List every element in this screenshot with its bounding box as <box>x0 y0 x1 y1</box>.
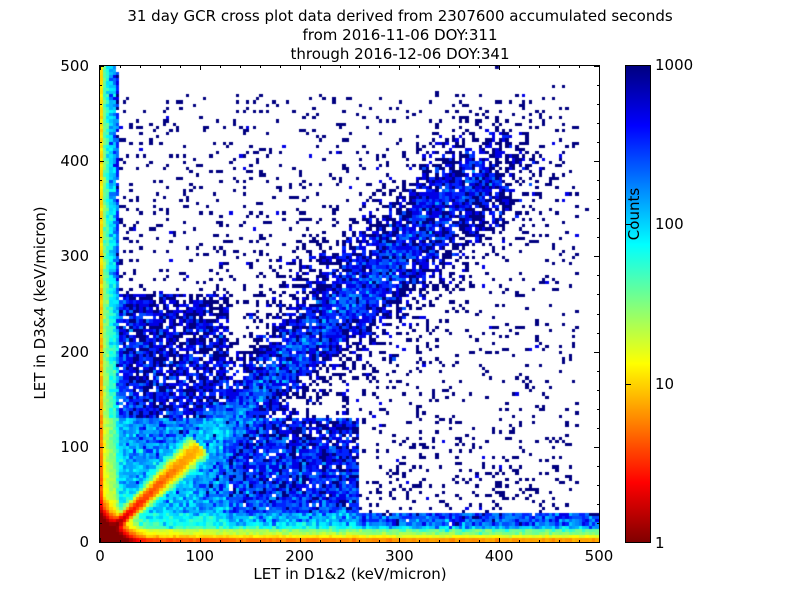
y-axis-major-tick-right <box>594 66 598 67</box>
x-axis-major-tick <box>300 538 301 542</box>
y-axis-minor-tick-right <box>597 504 599 505</box>
y-axis-minor-tick-right <box>597 371 599 372</box>
y-axis-minor-tick <box>100 237 102 238</box>
y-axis-minor-tick-right <box>597 85 599 86</box>
x-axis-minor-tick <box>340 540 341 542</box>
x-axis-tick-label: 500 <box>569 547 629 565</box>
y-axis-minor-tick-right <box>597 294 599 295</box>
plot-area[interactable] <box>99 65 600 543</box>
x-axis-major-tick <box>399 538 400 542</box>
x-axis-tick-label: 400 <box>469 547 529 565</box>
y-axis-minor-tick-right <box>597 428 599 429</box>
title-line-1: 31 day GCR cross plot data derived from … <box>0 7 800 26</box>
x-axis-minor-tick-top <box>419 66 420 68</box>
x-axis-minor-tick-top <box>340 66 341 68</box>
x-axis-major-tick-top <box>399 66 400 70</box>
x-axis-minor-tick <box>539 540 540 542</box>
x-axis-minor-tick <box>140 540 141 542</box>
y-axis-minor-tick-right <box>597 218 599 219</box>
y-axis-major-tick-right <box>594 161 598 162</box>
x-axis-minor-tick <box>479 540 480 542</box>
y-axis-minor-tick <box>100 142 102 143</box>
x-axis-major-tick <box>499 538 500 542</box>
x-axis-minor-tick-top <box>519 66 520 68</box>
x-axis-major-tick <box>200 538 201 542</box>
y-axis-minor-tick <box>100 123 102 124</box>
y-axis-minor-tick <box>100 466 102 467</box>
x-axis-minor-tick <box>240 540 241 542</box>
y-axis-major-tick-right <box>594 447 598 448</box>
x-axis-minor-tick-top <box>320 66 321 68</box>
y-axis-minor-tick <box>100 180 102 181</box>
x-axis-minor-tick-top <box>160 66 161 68</box>
y-axis-major-tick-right <box>594 542 598 543</box>
y-axis-minor-tick-right <box>597 180 599 181</box>
colorbar-tick-label: 1 <box>655 534 665 552</box>
x-axis-major-tick-top <box>499 66 500 70</box>
x-axis-minor-tick-top <box>280 66 281 68</box>
x-axis-minor-tick <box>359 540 360 542</box>
y-axis-minor-tick <box>100 199 102 200</box>
x-axis-minor-tick <box>280 540 281 542</box>
x-axis-minor-tick-top <box>439 66 440 68</box>
y-axis-minor-tick <box>100 504 102 505</box>
x-axis-minor-tick-top <box>379 66 380 68</box>
y-axis-tick-label: 0 <box>29 533 89 551</box>
x-axis-minor-tick <box>419 540 420 542</box>
x-axis-minor-tick <box>160 540 161 542</box>
y-axis-minor-tick-right <box>597 523 599 524</box>
y-axis-major-tick-right <box>594 256 598 257</box>
colorbar-tick-label: 100 <box>655 215 684 233</box>
y-axis-minor-tick-right <box>597 199 599 200</box>
x-axis-minor-tick-top <box>459 66 460 68</box>
y-axis-minor-tick-right <box>597 104 599 105</box>
x-axis-minor-tick-top <box>479 66 480 68</box>
x-axis-tick-label: 100 <box>170 547 230 565</box>
y-axis-minor-tick <box>100 390 102 391</box>
y-axis-minor-tick <box>100 333 102 334</box>
x-axis-major-tick-top <box>599 66 600 70</box>
y-axis-major-tick <box>100 256 104 257</box>
y-axis-label: LET in D3&4 (keV/micron) <box>31 173 49 433</box>
x-axis-minor-tick-top <box>240 66 241 68</box>
x-axis-minor-tick <box>379 540 380 542</box>
x-axis-minor-tick-top <box>359 66 360 68</box>
y-axis-minor-tick-right <box>597 333 599 334</box>
x-axis-minor-tick-top <box>559 66 560 68</box>
x-axis-tick-label: 200 <box>270 547 330 565</box>
y-axis-minor-tick <box>100 409 102 410</box>
y-axis-tick-label: 400 <box>29 152 89 170</box>
y-axis-minor-tick-right <box>597 314 599 315</box>
x-axis-minor-tick-top <box>180 66 181 68</box>
y-axis-major-tick <box>100 66 104 67</box>
y-axis-minor-tick-right <box>597 466 599 467</box>
colorbar-tick-label: 1000 <box>655 56 693 74</box>
x-axis-major-tick-top <box>200 66 201 70</box>
y-axis-minor-tick <box>100 428 102 429</box>
y-axis-minor-tick <box>100 314 102 315</box>
scatter-density-canvas <box>100 66 599 542</box>
x-axis-minor-tick <box>180 540 181 542</box>
y-axis-major-tick <box>100 161 104 162</box>
x-axis-minor-tick-top <box>579 66 580 68</box>
x-axis-minor-tick <box>120 540 121 542</box>
y-axis-minor-tick <box>100 85 102 86</box>
title-line-2: from 2016-11-06 DOY:311 <box>0 26 800 45</box>
x-axis-minor-tick <box>519 540 520 542</box>
x-axis-minor-tick-top <box>120 66 121 68</box>
x-axis-minor-tick-top <box>539 66 540 68</box>
y-axis-minor-tick-right <box>597 123 599 124</box>
y-axis-minor-tick-right <box>597 409 599 410</box>
y-axis-minor-tick-right <box>597 275 599 276</box>
x-axis-minor-tick-top <box>220 66 221 68</box>
y-axis-major-tick-right <box>594 352 598 353</box>
x-axis-minor-tick <box>220 540 221 542</box>
y-axis-minor-tick <box>100 104 102 105</box>
y-axis-major-tick <box>100 352 104 353</box>
x-axis-minor-tick-top <box>140 66 141 68</box>
y-axis-minor-tick <box>100 371 102 372</box>
x-axis-label: LET in D1&2 (keV/micron) <box>0 565 700 583</box>
x-axis-tick-label: 300 <box>369 547 429 565</box>
y-axis-minor-tick <box>100 523 102 524</box>
y-axis-minor-tick <box>100 275 102 276</box>
y-axis-minor-tick-right <box>597 237 599 238</box>
x-axis-major-tick-top <box>300 66 301 70</box>
x-axis-minor-tick <box>439 540 440 542</box>
y-axis-minor-tick-right <box>597 390 599 391</box>
colorbar-label: Counts <box>625 134 643 294</box>
y-axis-minor-tick <box>100 485 102 486</box>
y-axis-major-tick <box>100 447 104 448</box>
y-axis-tick-label: 500 <box>29 57 89 75</box>
y-axis-minor-tick <box>100 294 102 295</box>
y-axis-tick-label: 100 <box>29 438 89 456</box>
x-axis-minor-tick <box>559 540 560 542</box>
x-axis-major-tick <box>599 538 600 542</box>
y-axis-major-tick <box>100 542 104 543</box>
y-axis-minor-tick <box>100 218 102 219</box>
colorbar-tick-label: 10 <box>655 375 674 393</box>
x-axis-minor-tick <box>579 540 580 542</box>
x-axis-minor-tick-top <box>260 66 261 68</box>
colorbar-tick <box>626 384 631 385</box>
x-axis-minor-tick <box>260 540 261 542</box>
y-axis-minor-tick-right <box>597 142 599 143</box>
y-axis-minor-tick-right <box>597 485 599 486</box>
x-axis-minor-tick <box>320 540 321 542</box>
x-axis-minor-tick <box>459 540 460 542</box>
